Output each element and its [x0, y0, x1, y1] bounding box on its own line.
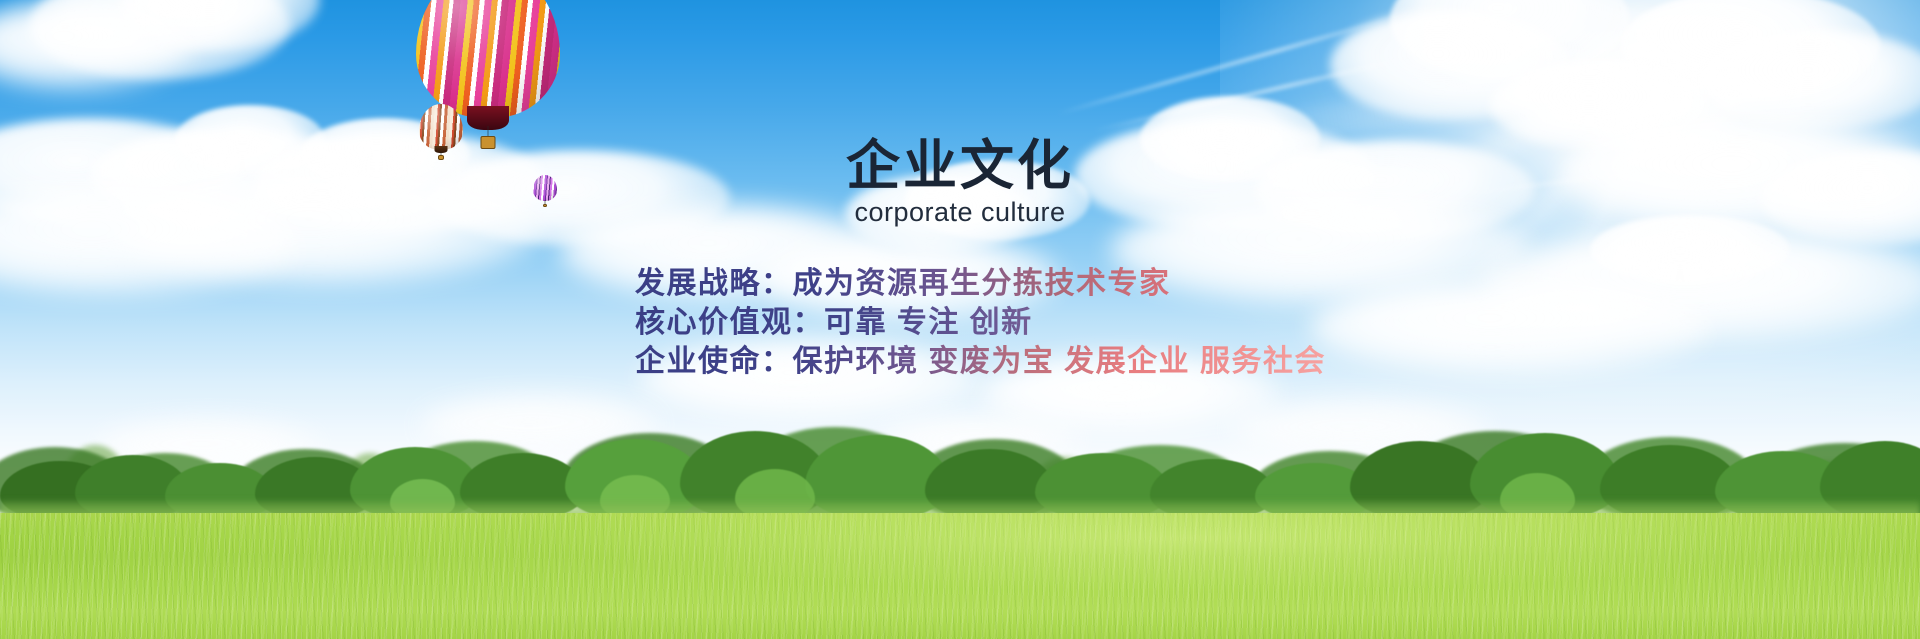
balloon-envelope — [533, 175, 557, 201]
hot-air-balloon-small — [533, 175, 557, 208]
balloon-basket — [438, 155, 444, 160]
balloon-envelope — [419, 104, 463, 150]
grass-field — [0, 513, 1920, 639]
hot-air-balloon-medium — [419, 104, 463, 162]
balloon-basket — [543, 204, 547, 207]
sky-background — [0, 0, 1920, 480]
balloon-envelope — [416, 0, 560, 118]
corporate-culture-banner: 企业文化 corporate culture 发展战略：成为资源再生分拣技术专家… — [0, 0, 1920, 639]
balloon-basket — [481, 136, 496, 149]
